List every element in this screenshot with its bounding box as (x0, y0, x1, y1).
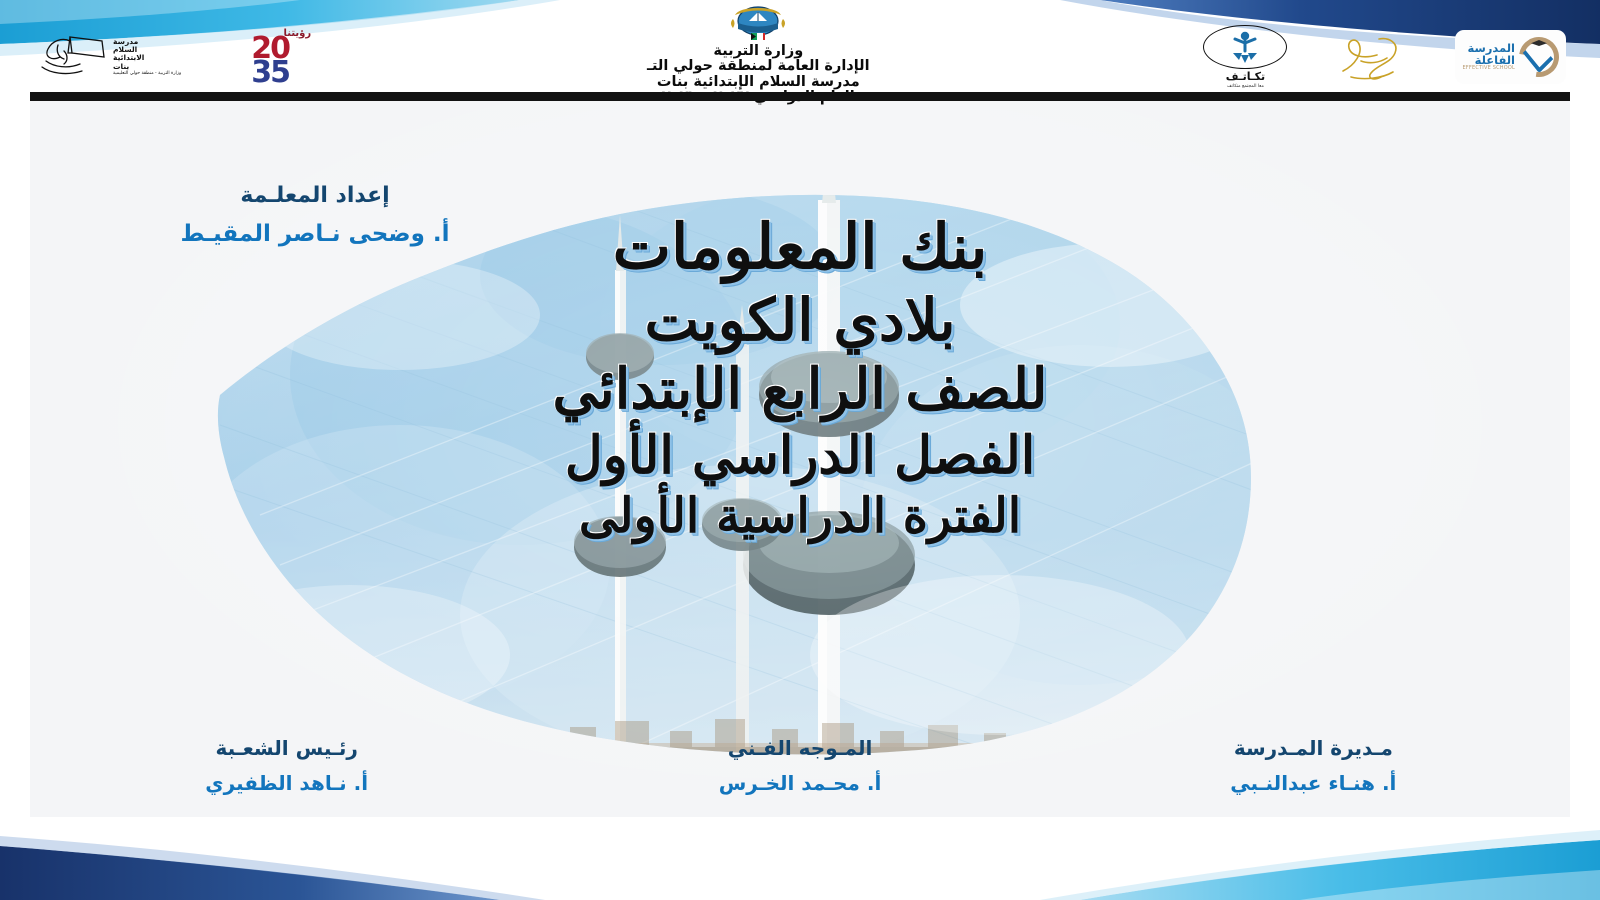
main-content-panel: بنك المعلومات بلادي الكويت للصف الرابع ا… (30, 101, 1570, 817)
prepared-by-role: إعداد المعلـمة (150, 183, 480, 208)
signature-person: أ. نـاهد الظفيري (137, 771, 437, 795)
school-book-calligraphy-icon (34, 31, 108, 83)
vision-number-bottom: 35 (251, 55, 289, 90)
signature-role: رئـيس الشعـبة (137, 736, 437, 760)
left-logo-cluster: المدرسة الفاعلة EFFECTIVE SCHOOL (1203, 25, 1566, 89)
ministry-header-block: وزارة التربية الإدارة العامة لمنطقة حولي… (647, 5, 870, 105)
signature-school-principal: مـديرة المـدرسة أ. هنـاء عبدالنـبي (1163, 736, 1463, 795)
signature-person: أ. محـمد الخـرس (650, 771, 950, 795)
signature-role: المـوجه الفـني (650, 736, 950, 760)
signature-technical-supervisor: المـوجه الفـني أ. محـمد الخـرس (650, 736, 950, 795)
school-logo: مدرسة السلام الابتدائية بنات وزارة الترب… (34, 31, 181, 83)
takatuf-word: تكـاتـف (1226, 70, 1265, 83)
takatuf-logo: تكـاتـف معا المجتمع متكاتف (1203, 25, 1287, 89)
header-row: المدرسة الفاعلة EFFECTIVE SCHOOL (0, 18, 1600, 96)
effective-school-logo: المدرسة الفاعلة EFFECTIVE SCHOOL (1455, 30, 1566, 84)
ministry-line-3: مدرسة السلام الإبتدائية بنات (647, 75, 870, 90)
header-divider-rule (30, 92, 1570, 101)
signature-role: مـديرة المـدرسة (1163, 736, 1463, 760)
ministry-line-1: وزارة التربية (647, 44, 870, 59)
takatuf-subtitle: معا المجتمع متكاتف (1227, 84, 1264, 89)
school-logo-words: مدرسة السلام الابتدائية بنات وزارة الترب… (113, 38, 181, 77)
prepared-by-person: أ. وضحى نـاصر المقيـط (150, 221, 480, 247)
right-logo-cluster: رؤيتنا 20 35 مدرسة السلام الابتدائية بنا… (34, 28, 313, 86)
signature-row: رئـيس الشعـبة أ. نـاهد الظفيري المـوجه ا… (30, 736, 1570, 795)
vision-2035-icon: 20 35 (227, 37, 313, 84)
effective-school-checkmark-icon (1519, 37, 1559, 77)
school-line-5: وزارة التربية - منطقة حولي التعليمية (113, 71, 181, 76)
kuwait-state-emblem-icon (727, 5, 789, 43)
signature-person: أ. هنـاء عبدالنـبي (1163, 771, 1463, 795)
vision-2035-logo: رؤيتنا 20 35 (227, 28, 313, 86)
ministry-line-2: الإدارة العامة لمنطقة حولي التـ (647, 59, 870, 74)
school-line-4: بنات (113, 63, 129, 71)
takatuf-person-oval-icon (1203, 25, 1287, 69)
prepared-by-block: إعداد المعلـمة أ. وضحى نـاصر المقيـط (150, 183, 480, 247)
effective-school-line3: EFFECTIVE SCHOOL (1462, 66, 1515, 71)
presentation-slide: المدرسة الفاعلة EFFECTIVE SCHOOL (0, 0, 1600, 900)
signature-head-of-division: رئـيس الشعـبة أ. نـاهد الظفيري (137, 736, 437, 795)
gold-calligraphy-swirl-icon (1333, 31, 1409, 83)
